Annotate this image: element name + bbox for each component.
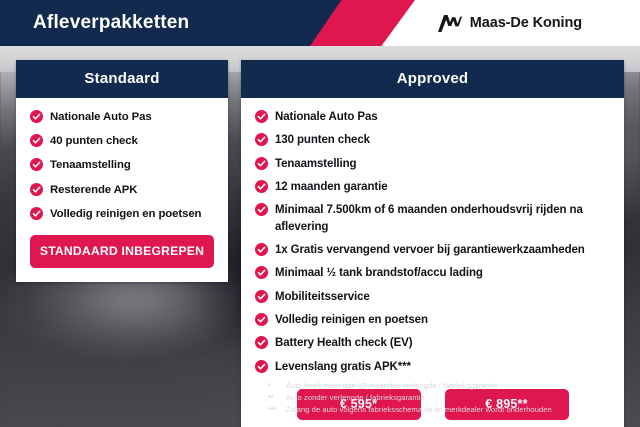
slide-canvas: Afleverpakketten Maas-De Koning Standaar… [0, 0, 640, 427]
check-circle-icon [255, 360, 268, 373]
card-body-approved: Nationale Auto Pas 130 punten check Tena… [241, 98, 624, 427]
list-item: Levenslang gratis APK*** [255, 359, 610, 375]
check-circle-icon [255, 203, 268, 216]
list-item: Resterende APK [30, 182, 214, 198]
card-title-standaard: Standaard [16, 60, 228, 98]
check-circle-icon [30, 183, 43, 196]
list-item-label: Resterende APK [50, 182, 137, 198]
brand-name: Maas-De Koning [470, 15, 582, 31]
list-item-label: Minimaal 7.500km of 6 maanden onderhouds… [275, 202, 610, 235]
brand-lockup: Maas-De Koning [438, 0, 582, 46]
list-item: Battery Health check (EV) [255, 335, 610, 351]
list-item-label: Tenaamstelling [50, 157, 131, 173]
maas-de-koning-m-logo-icon [438, 15, 462, 32]
footnote-row: *** Zolang de auto volgens fabrieksschem… [268, 404, 628, 415]
footnote-text: Auto heeft meer dan 12 maanden verlengde… [286, 380, 498, 391]
list-item: Mobiliteitsservice [255, 289, 610, 305]
list-item: 40 punten check [30, 133, 214, 149]
list-item: Tenaamstelling [30, 157, 214, 173]
check-circle-icon [30, 207, 43, 220]
list-item: Tenaamstelling [255, 156, 610, 172]
footnote-text: Auto zonder verlengde / fabrieksgarantie [286, 392, 425, 403]
list-item: Nationale Auto Pas [30, 109, 214, 125]
check-circle-icon [30, 158, 43, 171]
card-body-standaard: Nationale Auto Pas 40 punten check Tenaa… [16, 98, 228, 282]
list-item-label: Nationale Auto Pas [50, 109, 152, 125]
list-item: 1x Gratis vervangend vervoer bij garanti… [255, 242, 610, 258]
list-item-label: 130 punten check [275, 132, 370, 148]
list-item-label: Tenaamstelling [275, 156, 356, 172]
list-item-label: Volledig reinigen en poetsen [275, 312, 428, 328]
list-item: Volledig reinigen en poetsen [30, 206, 214, 222]
footnote-text: Zolang de auto volgens fabrieksschema bi… [286, 404, 552, 415]
page-title: Afleverpakketten [33, 0, 189, 46]
list-item: Nationale Auto Pas [255, 109, 610, 125]
standaard-inbegrepen-button[interactable]: STANDAARD INBEGREPEN [30, 235, 214, 268]
list-item-label: 12 maanden garantie [275, 179, 388, 195]
list-item-label: 40 punten check [50, 133, 138, 149]
check-circle-icon [255, 266, 268, 279]
list-item-label: Mobiliteitsservice [275, 289, 370, 305]
list-item: 130 punten check [255, 132, 610, 148]
package-card-standaard: Standaard Nationale Auto Pas 40 punten c… [16, 60, 228, 282]
footnote-row: ** Auto zonder verlengde / fabrieksgaran… [268, 392, 628, 403]
header-bar: Afleverpakketten Maas-De Koning [0, 0, 640, 46]
list-item-label: Battery Health check (EV) [275, 335, 412, 351]
check-circle-icon [255, 110, 268, 123]
check-circle-icon [255, 243, 268, 256]
list-item-label: Volledig reinigen en poetsen [50, 206, 201, 222]
package-card-approved: Approved Nationale Auto Pas 130 punten c… [241, 60, 624, 427]
footnote-marker: *** [268, 404, 286, 415]
check-circle-icon [30, 134, 43, 147]
footnote-marker: ** [268, 392, 286, 403]
list-item: Volledig reinigen en poetsen [255, 312, 610, 328]
list-item-label: Minimaal ½ tank brandstof/accu lading [275, 265, 483, 281]
list-item-label: Nationale Auto Pas [275, 109, 378, 125]
check-circle-icon [255, 290, 268, 303]
footnotes: * Auto heeft meer dan 12 maanden verleng… [268, 380, 628, 416]
list-item-label: Levenslang gratis APK*** [275, 359, 411, 375]
list-item: Minimaal 7.500km of 6 maanden onderhouds… [255, 202, 610, 235]
check-circle-icon [255, 180, 268, 193]
list-item: Minimaal ½ tank brandstof/accu lading [255, 265, 610, 281]
check-circle-icon [255, 313, 268, 326]
check-circle-icon [255, 133, 268, 146]
card-title-approved: Approved [241, 60, 624, 98]
check-circle-icon [255, 157, 268, 170]
footnote-marker: * [268, 380, 286, 391]
list-item: 12 maanden garantie [255, 179, 610, 195]
check-circle-icon [30, 110, 43, 123]
check-circle-icon [255, 336, 268, 349]
footnote-row: * Auto heeft meer dan 12 maanden verleng… [268, 380, 628, 391]
list-item-label: 1x Gratis vervangend vervoer bij garanti… [275, 242, 585, 258]
